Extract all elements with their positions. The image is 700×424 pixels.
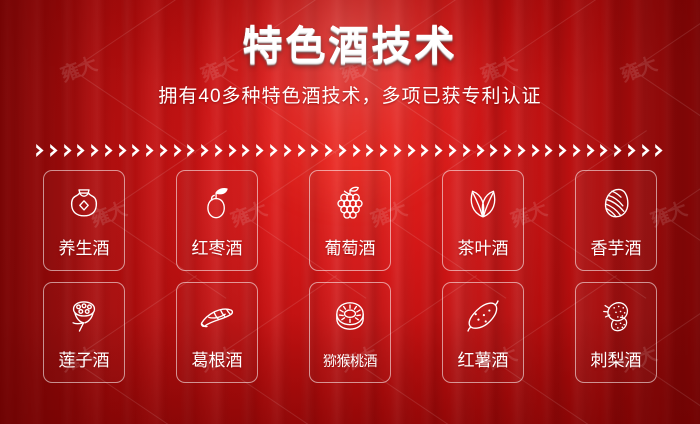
chevron-right-icon <box>449 144 457 157</box>
chevron-right-icon <box>298 144 306 157</box>
chevron-right-icon <box>36 144 44 157</box>
technology-card[interactable]: 莲子酒 <box>43 282 125 383</box>
chevron-right-icon <box>160 144 168 157</box>
page-subtitle: 拥有40多种特色酒技术，多项已获专利认证 <box>0 81 700 108</box>
lotus-seedpod-icon <box>62 294 106 338</box>
chevron-right-icon <box>394 144 402 157</box>
chevron-right-icon <box>77 144 85 157</box>
chevron-right-icon <box>201 144 209 157</box>
jujube-icon <box>195 182 239 226</box>
technology-card[interactable]: 刺梨酒 <box>575 282 657 383</box>
technology-card-label: 茶叶酒 <box>443 234 523 259</box>
chevron-right-icon <box>655 144 663 157</box>
chevron-right-icon <box>559 144 567 157</box>
chevron-right-icon <box>628 144 636 157</box>
chevron-right-icon <box>187 144 195 157</box>
chevron-right-icon <box>229 144 237 157</box>
taro-icon <box>594 182 638 226</box>
tea-leaves-icon <box>461 182 505 226</box>
chevron-right-icon <box>50 144 58 157</box>
chevron-right-icon <box>146 144 154 157</box>
chevron-right-icon <box>256 144 264 157</box>
chevron-right-icon <box>545 144 553 157</box>
chevron-right-icon <box>270 144 278 157</box>
chevron-right-icon <box>311 144 319 157</box>
chevron-right-icon <box>504 144 512 157</box>
chevron-right-icon <box>64 144 72 157</box>
chevron-right-icon <box>174 144 182 157</box>
technology-card-label: 葛根酒 <box>177 346 257 371</box>
kudzu-root-icon <box>195 294 239 338</box>
technology-card-label: 红枣酒 <box>177 234 257 259</box>
technology-card[interactable]: 红薯酒 <box>442 282 524 383</box>
chevron-right-icon <box>284 144 292 157</box>
chevron-right-icon <box>573 144 581 157</box>
chevron-right-icon <box>532 144 540 157</box>
page-title: 特色酒技术 <box>0 26 700 66</box>
chevron-right-icon <box>380 144 388 157</box>
kiwi-icon <box>328 294 372 338</box>
chevron-right-icon <box>105 144 113 157</box>
technology-card[interactable]: 茶叶酒 <box>442 170 524 271</box>
technology-card[interactable]: 香芋酒 <box>575 170 657 271</box>
chevron-right-icon <box>325 144 333 157</box>
header: 特色酒技术 拥有40多种特色酒技术，多项已获专利认证 <box>0 0 700 108</box>
chevron-right-icon <box>421 144 429 157</box>
chevron-right-icon <box>642 144 650 157</box>
technology-card-label: 养生酒 <box>44 234 124 259</box>
chevron-right-icon <box>91 144 99 157</box>
technology-card-label: 猕猴桃酒 <box>310 351 390 371</box>
technology-card[interactable]: 养生酒 <box>43 170 125 271</box>
chevron-right-icon <box>614 144 622 157</box>
chevron-right-icon <box>132 144 140 157</box>
chevron-right-icon <box>490 144 498 157</box>
technology-card-label: 香芋酒 <box>576 234 656 259</box>
chevron-right-icon <box>600 144 608 157</box>
technology-card-label: 莲子酒 <box>44 346 124 371</box>
chevron-right-icon <box>435 144 443 157</box>
promo-banner: 雍大雍大雍大雍大雍大雍大雍大雍大雍大雍大雍大雍大雍大雍大雍大 特色酒技术 拥有4… <box>0 0 700 424</box>
grapes-icon <box>328 182 372 226</box>
technology-card-grid: 养生酒红枣酒葡萄酒茶叶酒香芋酒莲子酒葛根酒猕猴桃酒红薯酒刺梨酒 <box>0 170 700 394</box>
chevron-right-icon <box>119 144 127 157</box>
technology-card[interactable]: 葡萄酒 <box>309 170 391 271</box>
chevron-right-icon <box>408 144 416 157</box>
technology-card-label: 刺梨酒 <box>576 346 656 371</box>
chevron-right-icon <box>242 144 250 157</box>
technology-card-label: 红薯酒 <box>443 346 523 371</box>
card-row: 莲子酒葛根酒猕猴桃酒红薯酒刺梨酒 <box>0 282 700 383</box>
prickly-pear-icon <box>594 294 638 338</box>
sweet-potato-icon <box>461 294 505 338</box>
chevron-right-icon <box>353 144 361 157</box>
chevron-right-icon <box>366 144 374 157</box>
chevron-right-icon <box>477 144 485 157</box>
technology-card[interactable]: 葛根酒 <box>176 282 258 383</box>
wine-jar-icon <box>62 182 106 226</box>
chevron-right-icon <box>463 144 471 157</box>
technology-card[interactable]: 红枣酒 <box>176 170 258 271</box>
chevron-right-icon <box>587 144 595 157</box>
technology-card[interactable]: 猕猴桃酒 <box>309 282 391 383</box>
card-row: 养生酒红枣酒葡萄酒茶叶酒香芋酒 <box>0 170 700 271</box>
chevron-divider <box>36 140 664 160</box>
chevron-right-icon <box>339 144 347 157</box>
chevron-right-icon <box>215 144 223 157</box>
chevron-right-icon <box>518 144 526 157</box>
technology-card-label: 葡萄酒 <box>310 234 390 259</box>
